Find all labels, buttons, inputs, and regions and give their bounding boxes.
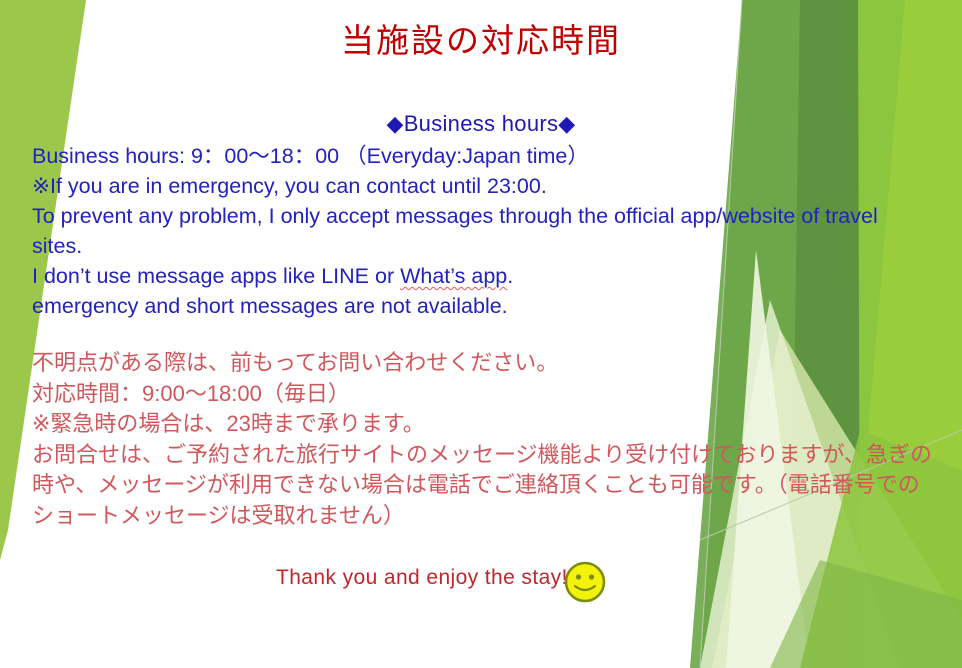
japanese-line-2: 対応時間：9:00〜18:00（毎日） — [32, 379, 937, 410]
slide: 当施設の対応時間 ◆Business hours◆ Business hours… — [0, 0, 962, 668]
english-body: Business hours: 9：00〜18：00 （Everyday:Jap… — [32, 141, 932, 321]
smiley-right-eye — [589, 574, 594, 579]
english-line-4-suffix: . — [507, 264, 513, 288]
slide-content: 当施設の対応時間 ◆Business hours◆ Business hours… — [0, 0, 962, 668]
japanese-body: 不明点がある際は、前もってお問い合わせください。 対応時間：9:00〜18:00… — [32, 348, 937, 531]
smiley-left-eye — [576, 574, 581, 579]
thank-you-message: Thank you and enjoy the stay! — [276, 566, 568, 590]
business-hours-heading: ◆Business hours◆ — [0, 111, 962, 137]
spellchecked-text: What’s app — [400, 264, 507, 288]
english-line-1: Business hours: 9：00〜18：00 （Everyday:Jap… — [32, 141, 932, 171]
smiley-face-icon — [563, 560, 607, 604]
japanese-line-3: ※緊急時の場合は、23時まで承ります。 — [32, 409, 937, 440]
page-title: 当施設の対応時間 — [0, 14, 962, 62]
english-line-4-prefix: I don’t use message apps like LINE or — [32, 264, 400, 288]
english-line-4: I don’t use message apps like LINE or Wh… — [32, 261, 932, 291]
japanese-line-4: お問合せは、ご予約された旅行サイトのメッセージ機能より受け付けておりますが、急ぎ… — [32, 440, 937, 532]
japanese-line-1: 不明点がある際は、前もってお問い合わせください。 — [32, 348, 937, 379]
english-line-2: ※If you are in emergency, you can contac… — [32, 171, 932, 201]
english-line-3: To prevent any problem, I only accept me… — [32, 201, 932, 261]
english-line-5: emergency and short messages are not ava… — [32, 291, 932, 321]
